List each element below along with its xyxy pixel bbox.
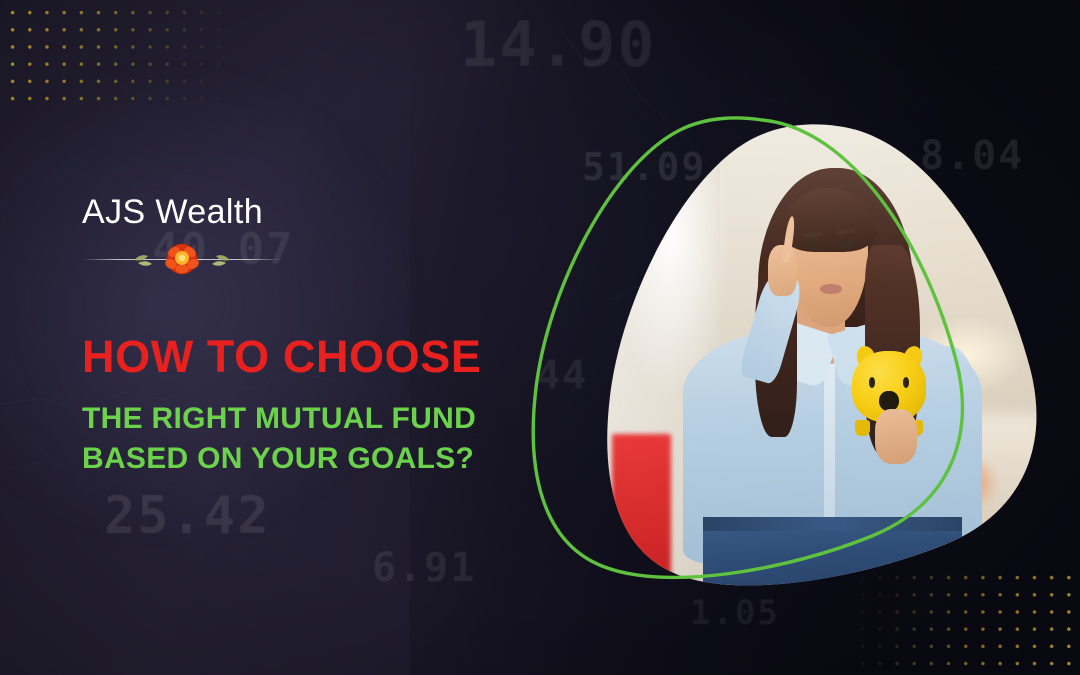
- marigold-flower-icon: [130, 242, 234, 276]
- ticker-number: 25.42: [104, 490, 271, 542]
- headline-line-1: HOW TO CHOOSE: [82, 333, 552, 381]
- dot-grid-top-left: [0, 0, 232, 108]
- brand-logo: AJS Wealth: [82, 195, 282, 276]
- banner-root: 14.90 51.09 8.04 40.07 25.42 6.91 44 1.0…: [0, 0, 1080, 675]
- blob-outline-icon: [528, 92, 1080, 652]
- photo-blob-group: [528, 92, 1080, 652]
- ticker-number: 6.91: [372, 548, 476, 588]
- headline-block: HOW TO CHOOSE THE RIGHT MUTUAL FUND BASE…: [82, 333, 552, 480]
- headline-line-2: THE RIGHT MUTUAL FUND: [82, 399, 552, 440]
- brand-ornament: [82, 242, 282, 276]
- brand-name: AJS Wealth: [82, 195, 282, 231]
- ticker-number: 14.90: [460, 14, 657, 76]
- headline-line-3: BASED ON YOUR GOALS?: [82, 439, 552, 480]
